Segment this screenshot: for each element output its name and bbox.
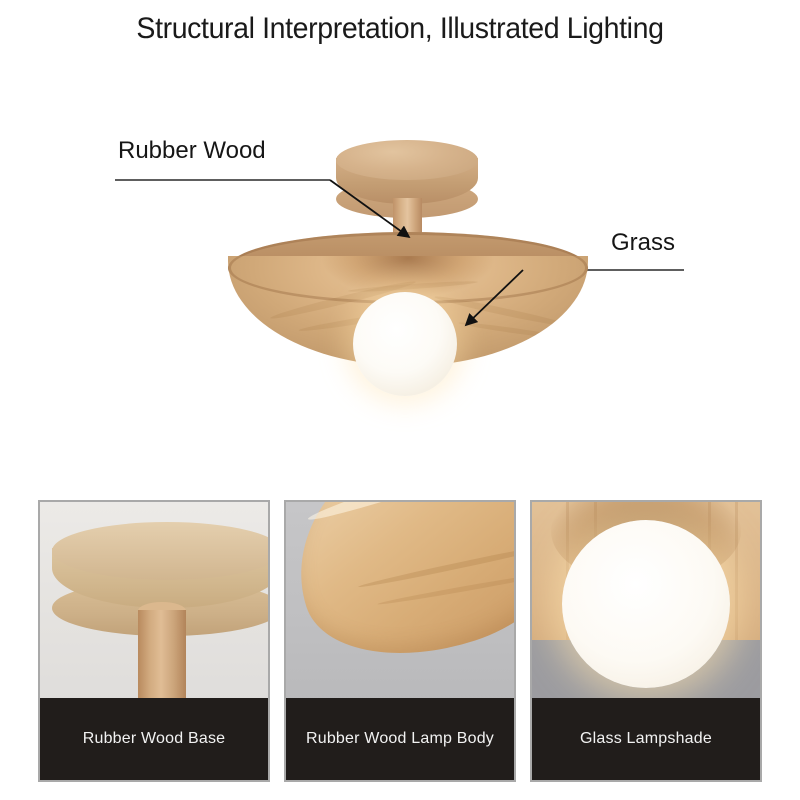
card-photo-rubber-wood-base — [40, 502, 268, 702]
base-stem — [138, 610, 186, 702]
base-disc-top — [52, 522, 268, 580]
wood-grain-line — [434, 294, 572, 330]
detail-card-glass-lampshade[interactable]: Glass Lampshade — [530, 500, 762, 782]
card-caption-rubber-wood-lamp-body: Rubber Wood Lamp Body — [286, 698, 514, 780]
page-title: Structural Interpretation, Illustrated L… — [20, 12, 780, 46]
callout-leader-line-rubber-wood — [115, 179, 330, 181]
card-caption-glass-lampshade: Glass Lampshade — [532, 698, 760, 780]
card-photo-rubber-wood-lamp-body — [286, 502, 514, 702]
glass-globe — [353, 292, 457, 396]
infographic-page: Structural Interpretation, Illustrated L… — [0, 0, 800, 800]
callout-label-grass: Grass — [611, 229, 675, 257]
card-photo-glass-lampshade — [532, 502, 760, 702]
hero-illustration — [0, 80, 800, 430]
card-caption-rubber-wood-base: Rubber Wood Base — [40, 698, 268, 780]
detail-card-rubber-wood-base[interactable]: Rubber Wood Base — [38, 500, 270, 782]
detail-cards-row: Rubber Wood Base Rubber Wood Lamp Body — [38, 500, 762, 782]
glass-globe-closeup — [562, 520, 730, 688]
detail-card-rubber-wood-lamp-body[interactable]: Rubber Wood Lamp Body — [284, 500, 516, 782]
callout-label-rubber-wood: Rubber Wood — [118, 137, 266, 165]
ceiling-mount-disc-top — [336, 140, 478, 180]
